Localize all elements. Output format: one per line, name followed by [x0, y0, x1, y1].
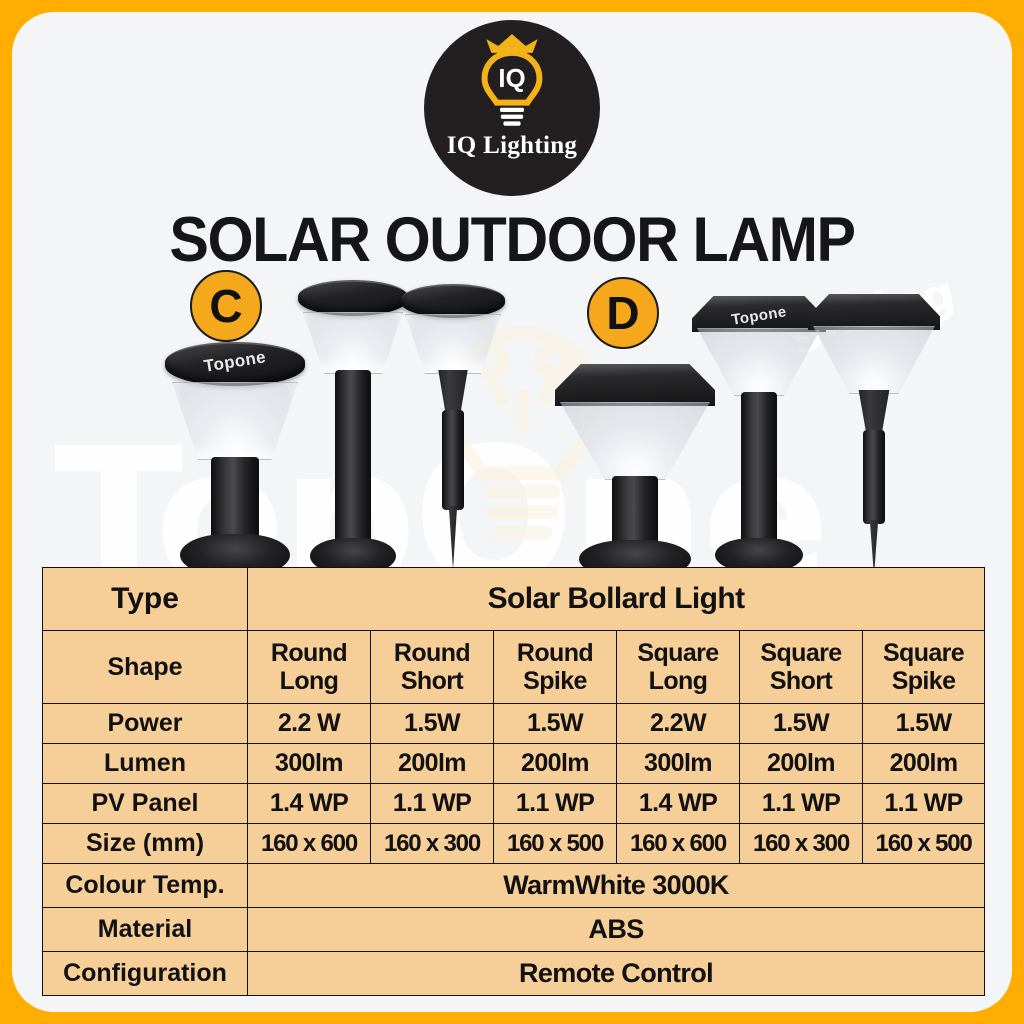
row-label: Shape [43, 631, 248, 704]
row-value: ABS [248, 908, 985, 952]
cell: Round Spike [494, 631, 617, 704]
table-row-size: Size (mm) 160 x 600 160 x 300 160 x 500 … [43, 824, 985, 864]
poster-root: TopOne ghting IQ [0, 0, 1024, 1024]
ground-spike [440, 506, 466, 570]
product-round-spike [397, 284, 509, 572]
cell: 200lm [494, 744, 617, 784]
table-row-power: Power 2.2 W 1.5W 1.5W 2.2W 1.5W 1.5W [43, 704, 985, 744]
page-title: SOLAR OUTDOOR LAMP [42, 204, 982, 276]
row-label: Colour Temp. [43, 864, 248, 908]
brand-logo: IQ IQ Lighting [424, 20, 600, 196]
cell: 160 x 300 [371, 824, 494, 864]
cell: 1.1 WP [371, 784, 494, 824]
diffuser [303, 312, 403, 374]
table-row-shape: Shape Round Long Round Short Round Spike… [43, 631, 985, 704]
row-label: Configuration [43, 952, 248, 996]
cap-brand-text: Topone [730, 303, 787, 328]
table-row-configuration: Configuration Remote Control [43, 952, 985, 996]
group-badge-d: D [587, 277, 659, 349]
cell: 1.1 WP [740, 784, 863, 824]
cell: 2.2W [617, 704, 740, 744]
post [863, 430, 885, 524]
product-round-long: Topone [160, 342, 310, 577]
diffuser [405, 314, 501, 374]
cell: 200lm [863, 744, 985, 784]
cell: 1.1 WP [863, 784, 985, 824]
diffuser [697, 328, 821, 396]
cell: Square Spike [863, 631, 985, 704]
cell: 1.5W [863, 704, 985, 744]
cell: 200lm [740, 744, 863, 784]
post [335, 370, 371, 546]
row-value: Remote Control [248, 952, 985, 996]
specification-table: Type Solar Bollard Light Shape Round Lon… [42, 567, 985, 996]
solar-cap-icon [808, 294, 940, 330]
table-row-lumen: Lumen 300lm 200lm 200lm 300lm 200lm 200l… [43, 744, 985, 784]
row-value: WarmWhite 3000K [248, 864, 985, 908]
table-row-type: Type Solar Bollard Light [43, 568, 985, 631]
cell: 160 x 500 [494, 824, 617, 864]
poster-card: TopOne ghting IQ [12, 12, 1012, 1012]
post [612, 476, 658, 548]
row-label: Size (mm) [43, 824, 248, 864]
cap-brand-text: Topone [203, 348, 268, 378]
diffuser [813, 326, 935, 394]
table-row-material: Material ABS [43, 908, 985, 952]
row-label: Power [43, 704, 248, 744]
cell: 300lm [617, 744, 740, 784]
cell: 160 x 600 [617, 824, 740, 864]
cell: 160 x 600 [248, 824, 371, 864]
row-label: Material [43, 908, 248, 952]
row-label: Type [43, 568, 248, 631]
diffuser [172, 382, 298, 460]
cell: Round Short [371, 631, 494, 704]
table-row-pv-panel: PV Panel 1.4 WP 1.1 WP 1.1 WP 1.4 WP 1.1… [43, 784, 985, 824]
row-label: Lumen [43, 744, 248, 784]
cell: 1.5W [494, 704, 617, 744]
post [442, 410, 464, 510]
group-badge-c: C [190, 270, 262, 342]
row-label: PV Panel [43, 784, 248, 824]
cell: 200lm [371, 744, 494, 784]
table-row-colour-temp: Colour Temp. WarmWhite 3000K [43, 864, 985, 908]
cell: Square Short [740, 631, 863, 704]
cell: Round Long [248, 631, 371, 704]
product-round-short [294, 280, 412, 577]
row-value: Solar Bollard Light [248, 568, 985, 631]
solar-cap-icon: Topone [165, 342, 305, 386]
cell: 1.4 WP [617, 784, 740, 824]
cell: 300lm [248, 744, 371, 784]
cell: 1.1 WP [494, 784, 617, 824]
solar-cap-icon [298, 280, 408, 316]
cell: 1.5W [740, 704, 863, 744]
post [211, 457, 259, 542]
cell: 160 x 500 [863, 824, 985, 864]
cell: Square Long [617, 631, 740, 704]
solar-cap-icon [401, 284, 505, 318]
crown-bulb-iq-icon: IQ [469, 34, 555, 130]
product-square-spike [804, 294, 944, 576]
cell: 160 x 300 [740, 824, 863, 864]
cell: 2.2 W [248, 704, 371, 744]
post [741, 392, 777, 544]
neck [430, 370, 476, 414]
neck [850, 390, 898, 434]
cell: 1.4 WP [248, 784, 371, 824]
svg-text:IQ: IQ [498, 65, 525, 93]
cell: 1.5W [371, 704, 494, 744]
brand-logo-text: IQ Lighting [447, 132, 577, 160]
